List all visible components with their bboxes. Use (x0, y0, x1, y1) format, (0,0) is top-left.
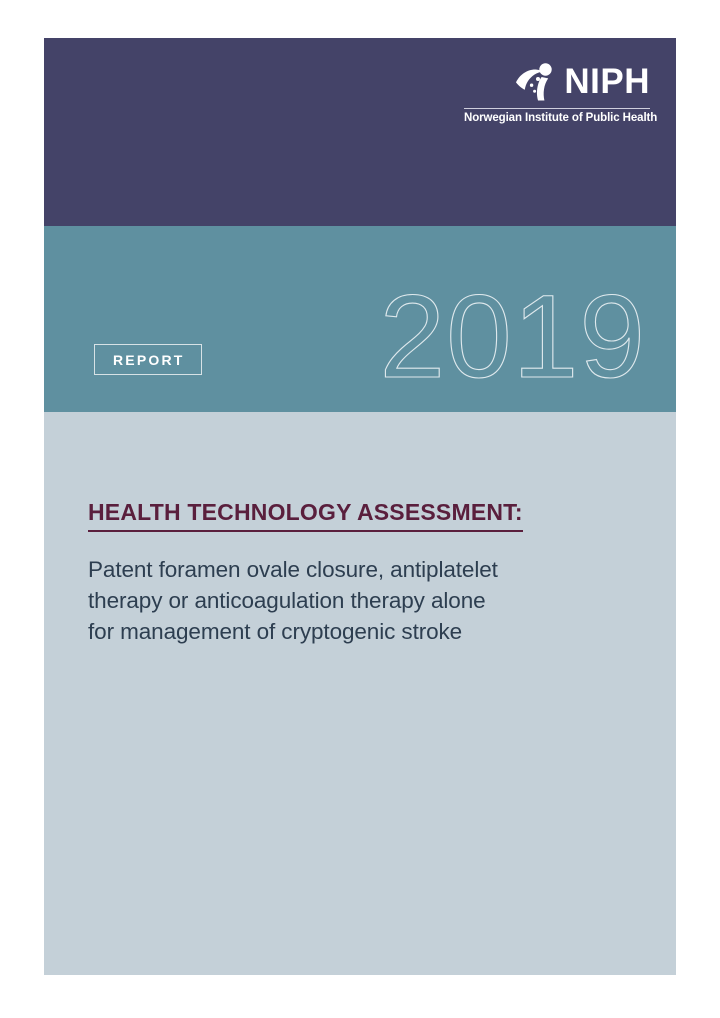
cover-artwork: NIPH Norwegian Institute of Public Healt… (44, 38, 676, 975)
subtitle-line: therapy or anticoagulation therapy alone (88, 585, 608, 616)
report-cover-page: NIPH Norwegian Institute of Public Healt… (0, 0, 720, 1018)
year-band-teal: 2019 REPORT (44, 226, 676, 412)
niph-figure-icon (514, 60, 558, 102)
subtitle-line: Patent foramen ovale closure, antiplatel… (88, 554, 608, 585)
page-subtitle: Patent foramen ovale closure, antiplatel… (88, 554, 608, 647)
page-title: HEALTH TECHNOLOGY ASSESSMENT: (88, 498, 523, 532)
publication-year: 2019 (379, 278, 646, 396)
logo-row: NIPH (464, 58, 650, 104)
publisher-logo: NIPH Norwegian Institute of Public Healt… (464, 58, 650, 125)
report-type-badge: REPORT (94, 344, 202, 375)
logo-tagline: Norwegian Institute of Public Health (464, 112, 650, 125)
logo-acronym: NIPH (564, 64, 650, 99)
header-band-navy: NIPH Norwegian Institute of Public Healt… (44, 38, 676, 226)
subtitle-line: for management of cryptogenic stroke (88, 616, 608, 647)
logo-divider (464, 108, 650, 109)
title-area: HEALTH TECHNOLOGY ASSESSMENT: Patent for… (88, 498, 608, 647)
title-band-light: HEALTH TECHNOLOGY ASSESSMENT: Patent for… (44, 412, 676, 975)
